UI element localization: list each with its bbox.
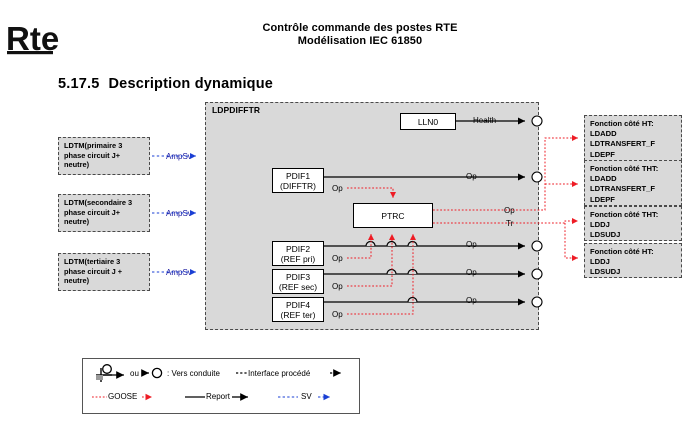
legend-vers-conduite-label: : Vers conduite: [167, 369, 220, 378]
boundary-circle-health: [532, 116, 542, 126]
boundary-circle-pdif4: [532, 297, 542, 307]
legend-goose-label: GOOSE: [108, 392, 137, 401]
sv-wire-group: [152, 156, 196, 272]
boundary-circle-pdif3: [532, 269, 542, 279]
legend-interface-procede-label: Interface procédé: [248, 369, 310, 378]
legend-sv-label: SV: [301, 392, 312, 401]
legend-report-label: Report: [206, 392, 230, 401]
report-wire-group: [324, 116, 542, 307]
goose-wire-group: [347, 138, 578, 314]
legend-box: [82, 358, 360, 414]
legend-ou-label: ou: [130, 369, 139, 378]
boundary-circle-pdif1: [532, 172, 542, 182]
boundary-circle-pdif2: [532, 241, 542, 251]
